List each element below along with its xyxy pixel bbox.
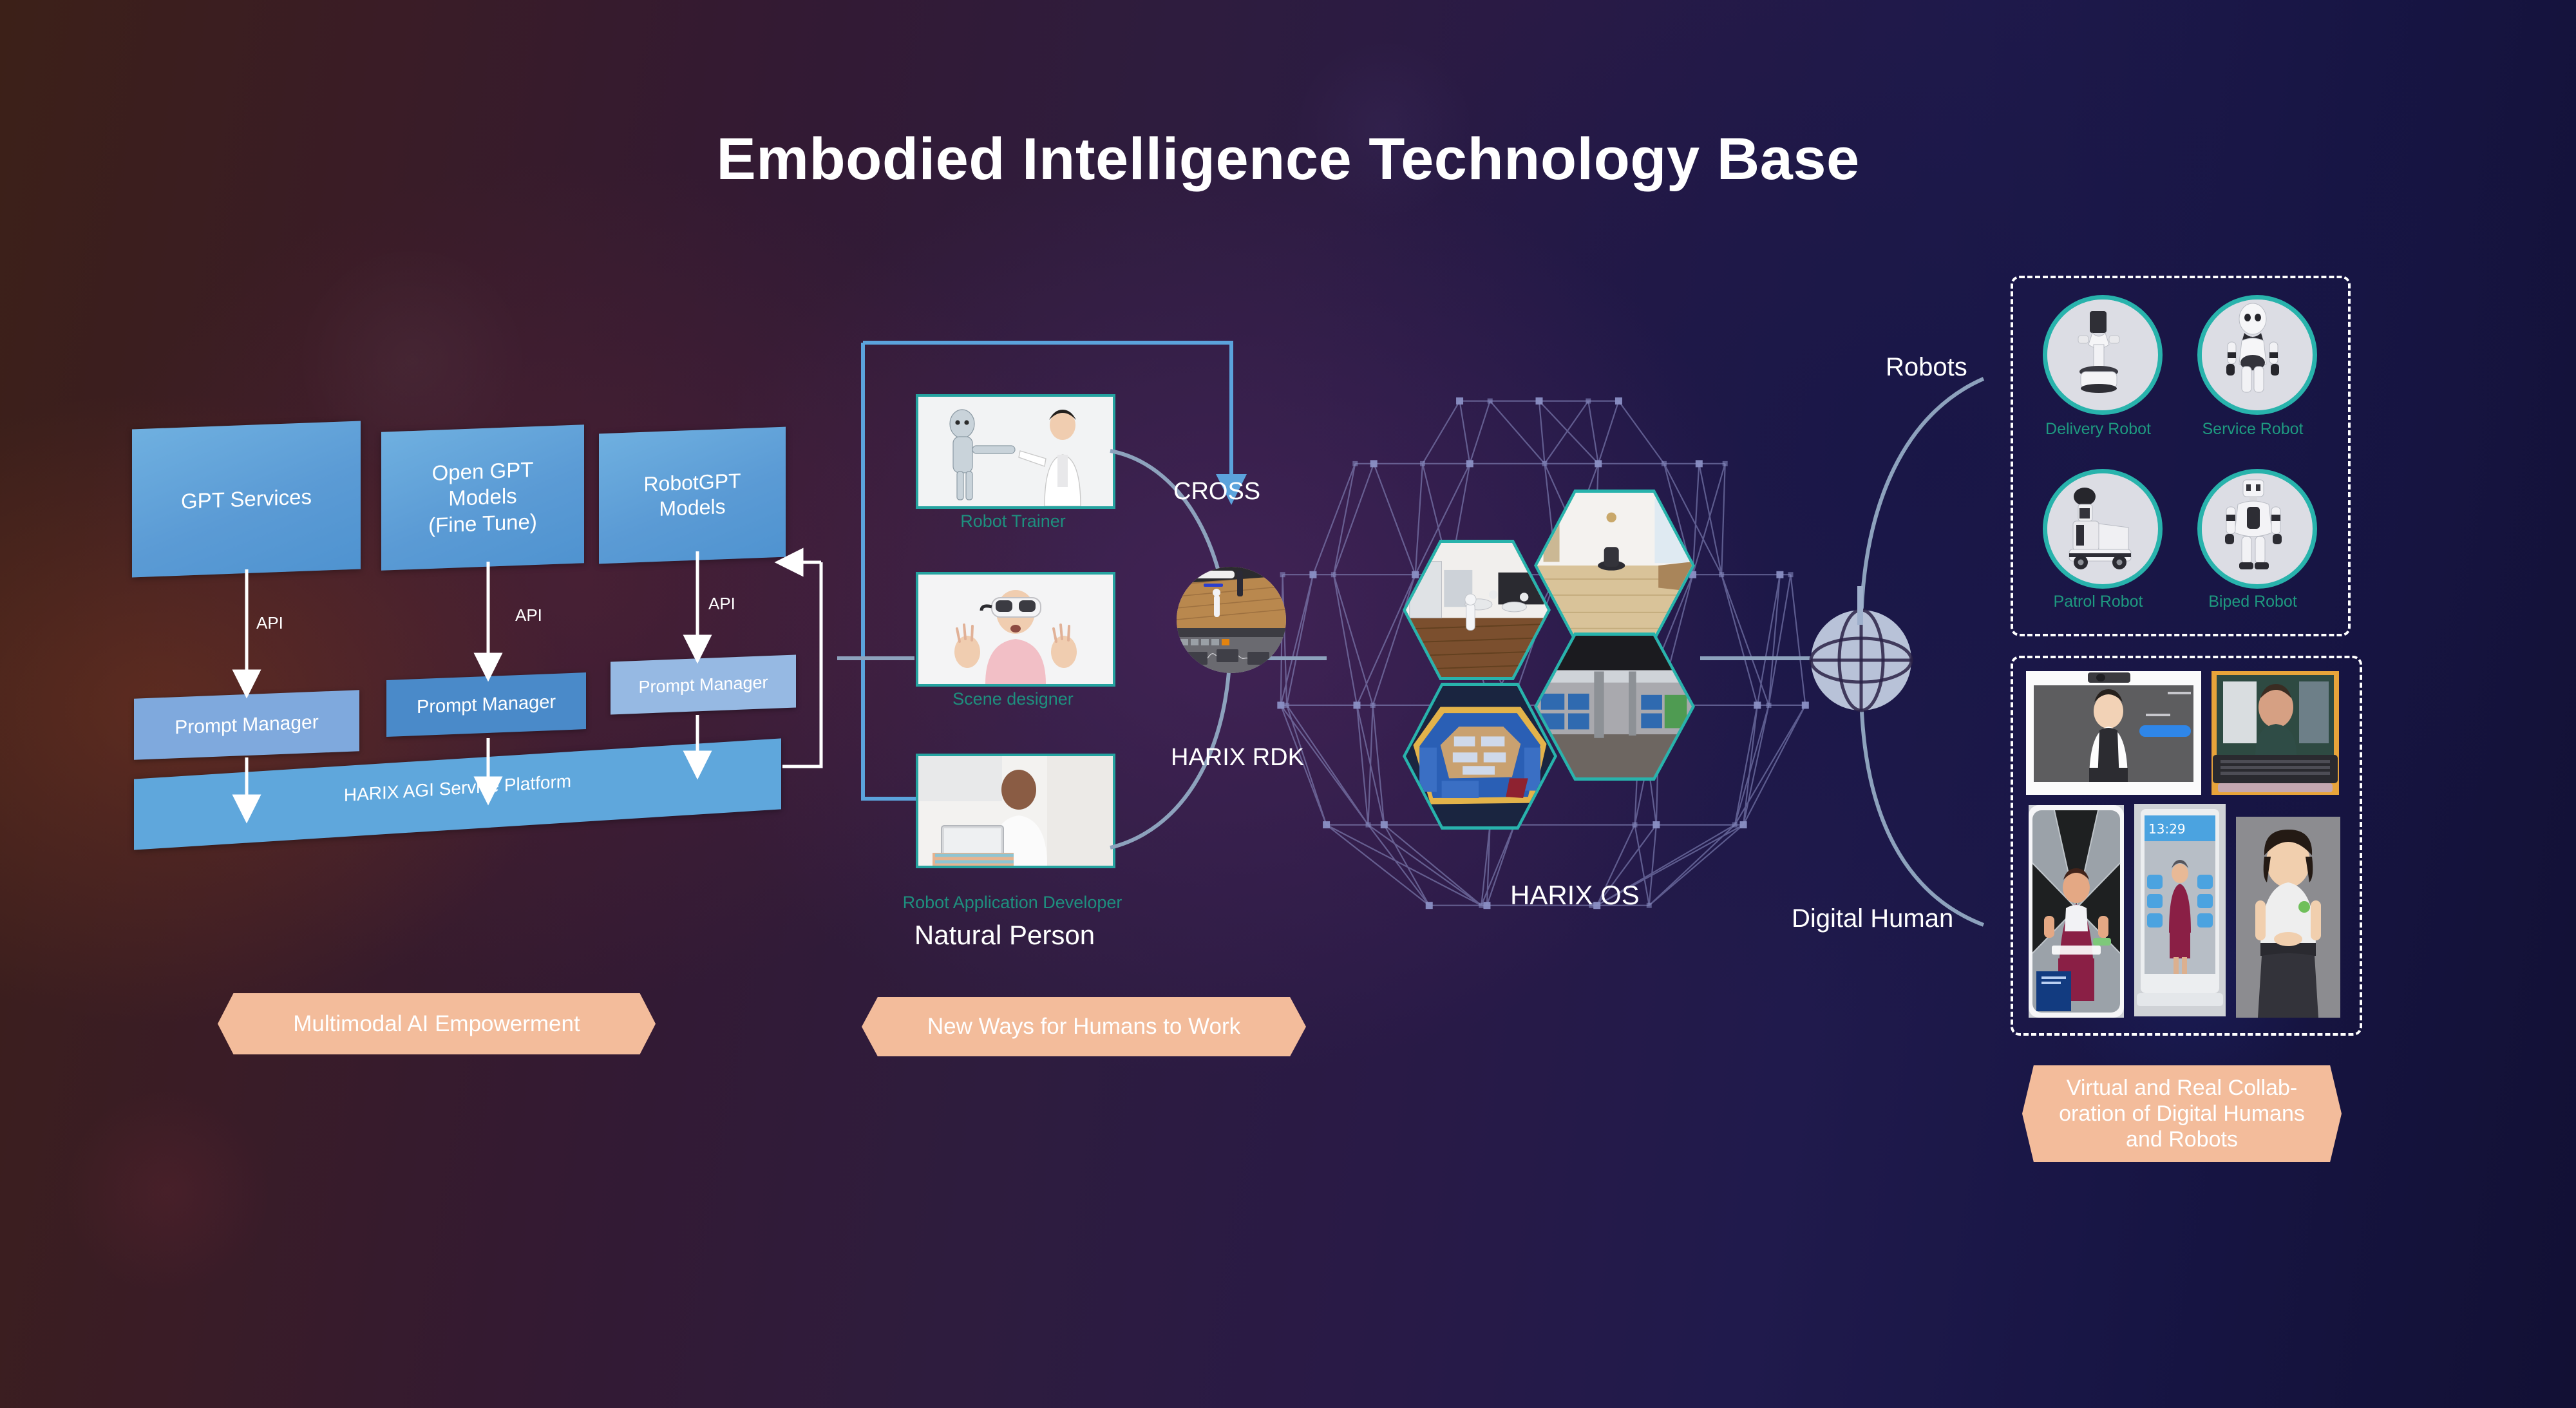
banner-virtual-real-collaboration: Virtual and Real Collab-oration of Digit… [2022, 1065, 2342, 1162]
robot-circle-patrol[interactable] [2043, 469, 2163, 589]
svg-text:13:29: 13:29 [2148, 821, 2186, 837]
robot-circle-service[interactable] [2197, 295, 2317, 415]
service-robot-icon [2202, 300, 2304, 401]
phone-avatar-illustration [2029, 805, 2124, 1018]
robot-label-biped: Biped Robot [2178, 593, 2327, 611]
digital-human-tile-display[interactable]: 13:29 [2134, 804, 2226, 1016]
banner-virtual-real-label: Virtual and Real Collab-oration of Digit… [2059, 1075, 2305, 1152]
biped-robot-icon [2202, 473, 2304, 575]
digital-human-label: Digital Human [1792, 904, 1953, 933]
robot-label-service: Service Robot [2178, 420, 2327, 439]
robot-circle-biped[interactable] [2197, 469, 2317, 589]
globe-icon [1806, 605, 1916, 715]
robot-label-patrol: Patrol Robot [2023, 593, 2173, 611]
delivery-robot-icon [2047, 300, 2149, 401]
digital-human-tile-phone[interactable] [2029, 805, 2124, 1018]
digital-human-tile-laptop[interactable] [2211, 671, 2339, 795]
digital-human-tile-avatar[interactable] [2236, 817, 2340, 1018]
robot-label-delivery: Delivery Robot [2023, 420, 2173, 439]
avatar-portrait-illustration [2236, 817, 2340, 1018]
diagram-canvas: Embodied Intelligence Technology Base GP… [0, 0, 2576, 1408]
kiosk-screen-illustration [2026, 671, 2201, 795]
patrol-robot-icon [2047, 473, 2149, 575]
digital-human-tile-kiosk[interactable] [2026, 671, 2201, 795]
standing-display-illustration: 13:29 [2134, 804, 2226, 1016]
robot-circle-delivery[interactable] [2043, 295, 2163, 415]
laptop-avatar-illustration [2211, 671, 2339, 795]
robots-label: Robots [1886, 353, 1967, 382]
